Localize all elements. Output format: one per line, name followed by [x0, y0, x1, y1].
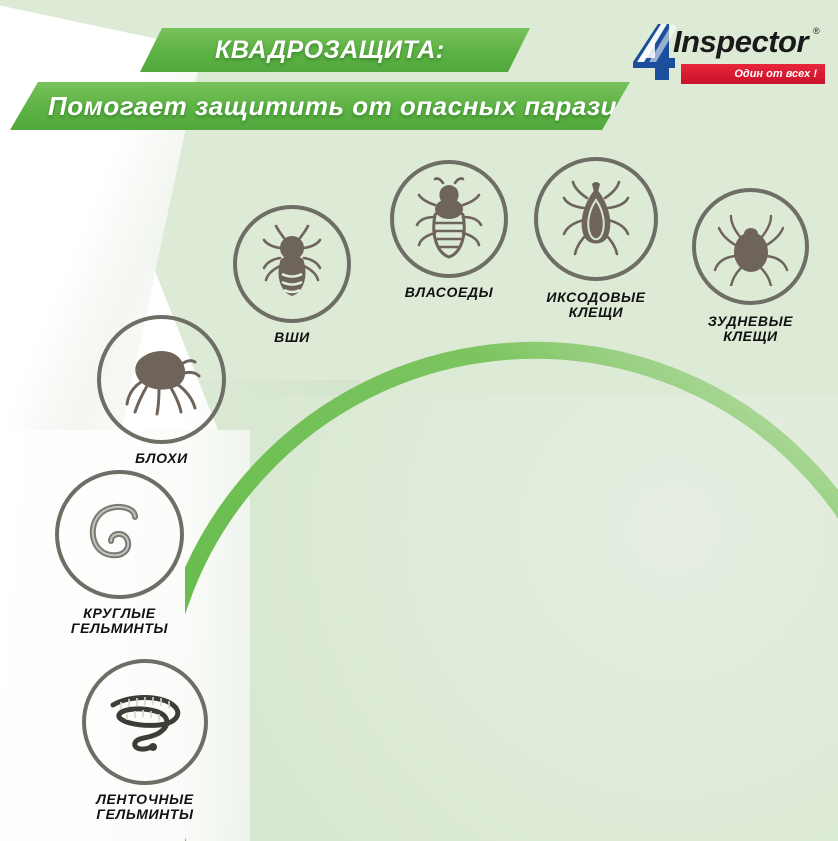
headline-banner-secondary: Помогает защитить от опасных паразитов	[10, 82, 630, 130]
parasite-label-ixodid-ticks: ИКСОДОВЫЕ КЛЕЩИ	[546, 290, 645, 320]
louse-icon	[256, 224, 328, 304]
green-ring-arc	[185, 330, 838, 841]
parasite-circle-biting-lice	[390, 160, 508, 278]
parasite-label-roundworms: КРУГЛЫЕ ГЕЛЬМИНТЫ	[71, 606, 168, 636]
tapeworm-icon	[99, 687, 191, 757]
headline-banner-primary: КВАДРОЗАЩИТА:	[140, 28, 530, 72]
headline-primary-text: КВАДРОЗАЩИТА:	[215, 36, 445, 65]
roundworm-icon	[77, 499, 163, 571]
parasite-label-tapeworms: ЛЕНТОЧНЫЕ ГЕЛЬМИНТЫ	[96, 792, 193, 822]
parasite-circle-roundworms	[55, 470, 184, 599]
ixodid-tick-icon	[556, 178, 636, 260]
flea-icon	[119, 342, 205, 418]
logo-trademark: ®	[813, 26, 820, 36]
parasite-node-fleas[interactable]: БЛОХИ	[97, 315, 226, 466]
parasite-node-biting-lice[interactable]: ВЛАСОЕДЫ	[390, 160, 508, 300]
parasite-node-tapeworms[interactable]: ЛЕНТОЧНЫЕ ГЕЛЬМИНТЫ	[82, 659, 208, 822]
parasite-label-mange-mites: ЗУДНЕВЫЕ КЛЕЩИ	[708, 314, 793, 344]
promo-poster: КВАДРОЗАЩИТА: Помогает защитить от опасн…	[0, 0, 838, 841]
parasite-label-fleas: БЛОХИ	[135, 451, 188, 466]
logo-tagline-bar: Один от всех !	[681, 64, 825, 84]
headline-secondary-text: Помогает защитить от опасных паразитов	[48, 91, 673, 122]
parasite-label-lice: ВШИ	[274, 330, 310, 345]
logo-wordmark: Inspector	[673, 24, 808, 60]
parasite-label-biting-lice: ВЛАСОЕДЫ	[405, 285, 493, 300]
logo-four-icon	[625, 22, 677, 82]
logo-tagline: Один от всех !	[734, 68, 817, 80]
parasite-circle-lice	[233, 205, 351, 323]
parasite-node-mange-mites[interactable]: ЗУДНЕВЫЕ КЛЕЩИ	[692, 188, 809, 344]
biting-louse-icon	[411, 177, 487, 261]
parasite-circle-tapeworms	[82, 659, 208, 785]
parasite-node-lice[interactable]: ВШИ	[233, 205, 351, 345]
mange-mite-icon	[711, 208, 791, 286]
parasite-node-roundworms[interactable]: КРУГЛЫЕ ГЕЛЬМИНТЫ	[55, 470, 184, 636]
parasite-node-ixodid-ticks[interactable]: ИКСОДОВЫЕ КЛЕЩИ	[534, 157, 658, 320]
parasite-circle-ixodid-ticks	[534, 157, 658, 281]
inspector-logo[interactable]: Inspector ® Один от всех !	[625, 22, 825, 86]
parasite-circle-mange-mites	[692, 188, 809, 305]
parasite-circle-fleas	[97, 315, 226, 444]
